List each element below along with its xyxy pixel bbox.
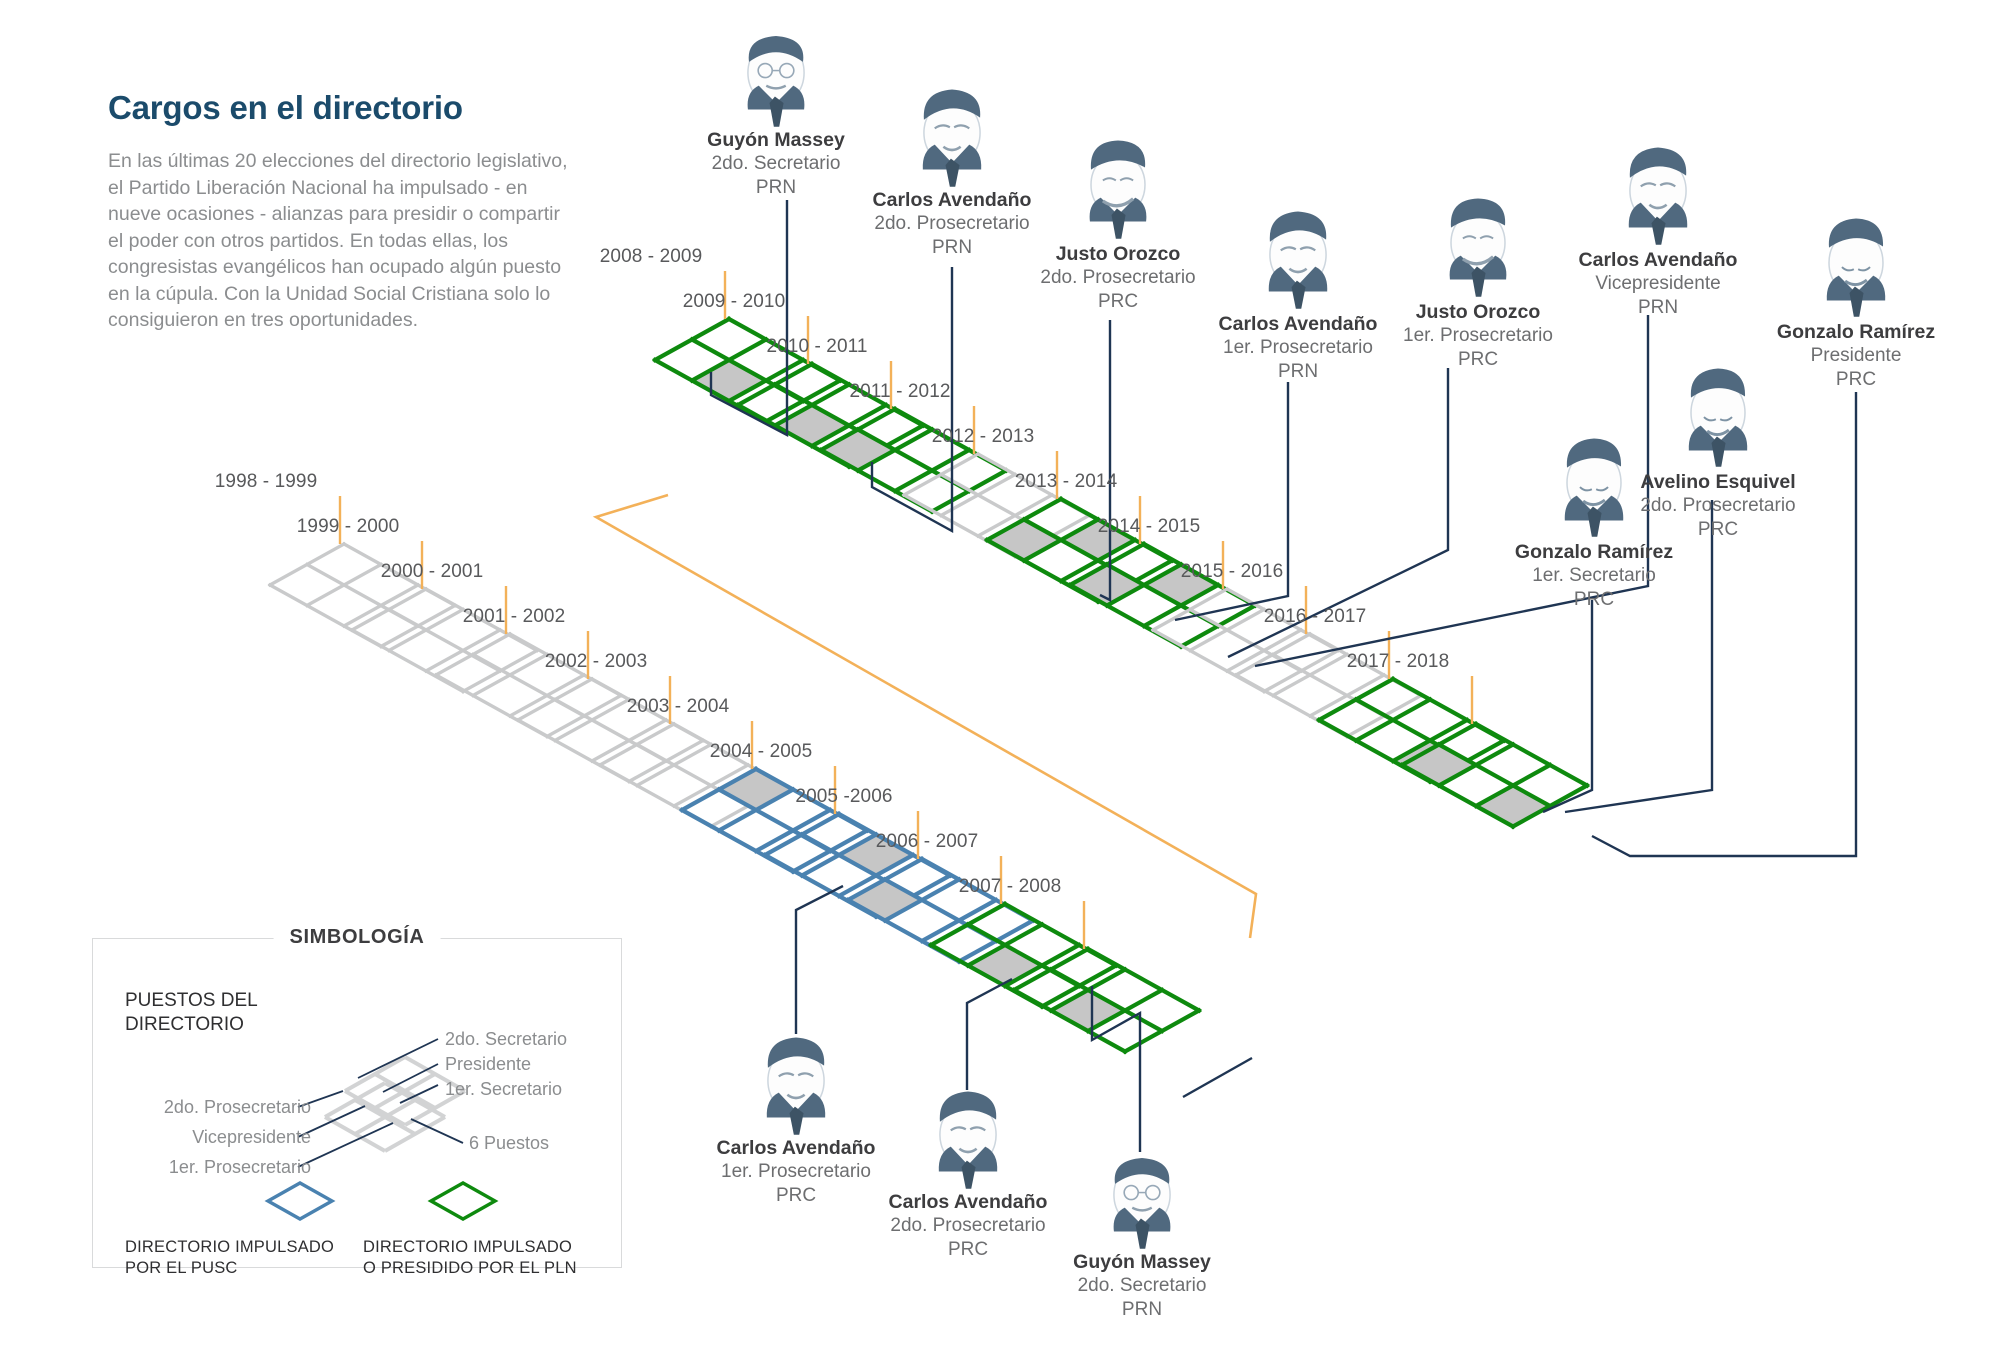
year-label: 2004 - 2005 [710, 741, 813, 763]
person-card[interactable]: Carlos Avendaño1er. ProsecretarioPRN [1219, 312, 1378, 384]
person-party: PRC [1640, 518, 1795, 542]
person-party: PRC [889, 1238, 1048, 1262]
legend-label-1er-prosecretario: 1er. Prosecretario [169, 1157, 311, 1178]
person-party: PRN [1073, 1298, 1211, 1322]
year-label: 2001 - 2002 [463, 606, 566, 628]
year-label: 2010 - 2011 [766, 336, 867, 358]
infographic-canvas: Cargos en el directorio En las últimas 2… [0, 0, 2000, 1364]
leader-gonzalo-ramirez-pres [1592, 392, 1856, 856]
year-label: 2006 - 2007 [876, 831, 979, 853]
year-label: 2003 - 2004 [627, 696, 730, 718]
person-name: Carlos Avendaño [873, 188, 1032, 212]
year-label: 2011 - 2012 [849, 381, 950, 403]
person-role: Presidente [1777, 344, 1935, 368]
person-role: 1er. Secretario [1515, 564, 1673, 588]
person-card[interactable]: Gonzalo RamírezPresidentePRC [1777, 320, 1935, 392]
person-name: Gonzalo Ramírez [1777, 320, 1935, 344]
person-party: PRN [707, 176, 845, 200]
person-party: PRN [873, 236, 1032, 260]
portrait-gonzalo-ramirez-a [1827, 218, 1885, 316]
person-party: PRC [717, 1184, 876, 1208]
legend-swatch-pusc [268, 1183, 332, 1219]
person-card[interactable]: Carlos AvendañoVicepresidentePRN [1579, 248, 1738, 320]
year-label: 2016 - 2017 [1264, 606, 1367, 628]
year-label: 2005 -2006 [795, 786, 892, 808]
person-party: PRC [1777, 368, 1935, 392]
person-name: Carlos Avendaño [717, 1136, 876, 1160]
legend-box: SIMBOLOGÍA PUESTOS DEL DIRECTORIO [92, 938, 622, 1268]
person-role: 2do. Secretario [707, 152, 845, 176]
person-name: Guyón Massey [707, 128, 845, 152]
occupied-cell[interactable] [1476, 786, 1550, 827]
person-card[interactable]: Carlos Avendaño2do. ProsecretarioPRN [873, 188, 1032, 260]
legend-caption-pusc: DIRECTORIO IMPULSADOPOR EL PUSC [125, 1237, 334, 1280]
person-name: Justo Orozco [1403, 300, 1553, 324]
person-name: Avelino Esquivel [1640, 470, 1795, 494]
person-role: 2do. Prosecretario [889, 1214, 1048, 1238]
person-role: 2do. Prosecretario [873, 212, 1032, 236]
year-label: 2014 - 2015 [1098, 516, 1201, 538]
year-label: 2017 - 2018 [1347, 651, 1450, 673]
person-role: 2do. Prosecretario [1640, 494, 1795, 518]
person-name: Gonzalo Ramírez [1515, 540, 1673, 564]
legend-caption-pln: DIRECTORIO IMPULSADOO PRESIDIDO POR EL P… [363, 1237, 577, 1280]
legend-label-6-puestos: 6 Puestos [469, 1133, 549, 1154]
year-label: 2012 - 2013 [932, 426, 1035, 448]
person-party: PRC [1403, 348, 1553, 372]
year-label: 2015 - 2016 [1181, 561, 1284, 583]
leader-gonzalo-ramirez-1er [1543, 600, 1592, 812]
portrait-carlos-avendano-a [923, 90, 981, 187]
person-role: 1er. Prosecretario [1403, 324, 1553, 348]
portrait-guyon-massey-a [748, 36, 805, 127]
year-label: 1999 - 2000 [297, 516, 400, 538]
person-name: Carlos Avendaño [1219, 312, 1378, 336]
person-name: Carlos Avendaño [1579, 248, 1738, 272]
person-card[interactable]: Avelino Esquivel2do. ProsecretarioPRC [1640, 470, 1795, 542]
person-role: 1er. Prosecretario [717, 1160, 876, 1184]
person-card[interactable]: Guyón Massey2do. SecretarioPRN [1073, 1250, 1211, 1322]
person-role: 2do. Prosecretario [1040, 266, 1195, 290]
year-label: 2008 - 2009 [600, 246, 703, 268]
portrait-justo-orozco-a [1090, 140, 1147, 238]
leader-2007-2008-cell [1183, 1058, 1252, 1097]
person-card[interactable]: Carlos Avendaño2do. ProsecretarioPRC [889, 1190, 1048, 1262]
person-role: 2do. Secretario [1073, 1274, 1211, 1298]
person-card[interactable]: Gonzalo Ramírez1er. SecretarioPRC [1515, 540, 1673, 612]
leader-carlos-avendano-2004 [967, 979, 1012, 1090]
year-label: 2009 - 2010 [683, 291, 786, 313]
person-party: PRN [1219, 360, 1378, 384]
person-card[interactable]: Guyón Massey2do. SecretarioPRN [707, 128, 845, 200]
portrait-avelino-esquivel [1689, 368, 1747, 466]
portrait-guyon-massey-b [1114, 1158, 1171, 1249]
year-label: 2002 - 2003 [545, 651, 648, 673]
person-party: PRC [1515, 588, 1673, 612]
year-label: 2013 - 2014 [1015, 471, 1118, 493]
leader-carlos-avendano-2003 [796, 886, 843, 1034]
legend-label-presidente: Presidente [445, 1054, 531, 1075]
person-name: Guyón Massey [1073, 1250, 1211, 1274]
person-name: Justo Orozco [1040, 242, 1195, 266]
person-role: 1er. Prosecretario [1219, 336, 1378, 360]
portrait-carlos-avendano-c [1629, 148, 1687, 245]
legend-swatch-pln [431, 1183, 495, 1219]
legend-label-2do-secretario: 2do. Secretario [445, 1029, 567, 1050]
legend-label-1er-secretario: 1er. Secretario [445, 1079, 562, 1100]
portrait-carlos-avendano-d [767, 1038, 825, 1135]
portrait-justo-orozco-b [1450, 198, 1507, 296]
year-label: 2007 - 2008 [959, 876, 1062, 898]
person-party: PRN [1579, 296, 1738, 320]
portrait-gonzalo-ramirez-b [1565, 438, 1623, 536]
person-party: PRC [1040, 290, 1195, 314]
person-card[interactable]: Carlos Avendaño1er. ProsecretarioPRC [717, 1136, 876, 1208]
portrait-carlos-avendano-b [1269, 212, 1327, 309]
year-label: 2000 - 2001 [381, 561, 484, 583]
person-name: Carlos Avendaño [889, 1190, 1048, 1214]
year-label: 1998 - 1999 [215, 471, 318, 493]
legend-label-vicepresidente: Vicepresidente [192, 1127, 311, 1148]
person-card[interactable]: Justo Orozco2do. ProsecretarioPRC [1040, 242, 1195, 314]
legend-label-2do-prosecretario: 2do. Prosecretario [164, 1097, 311, 1118]
portrait-carlos-avendano-e [939, 1092, 997, 1189]
person-role: Vicepresidente [1579, 272, 1738, 296]
person-card[interactable]: Justo Orozco1er. ProsecretarioPRC [1403, 300, 1553, 372]
